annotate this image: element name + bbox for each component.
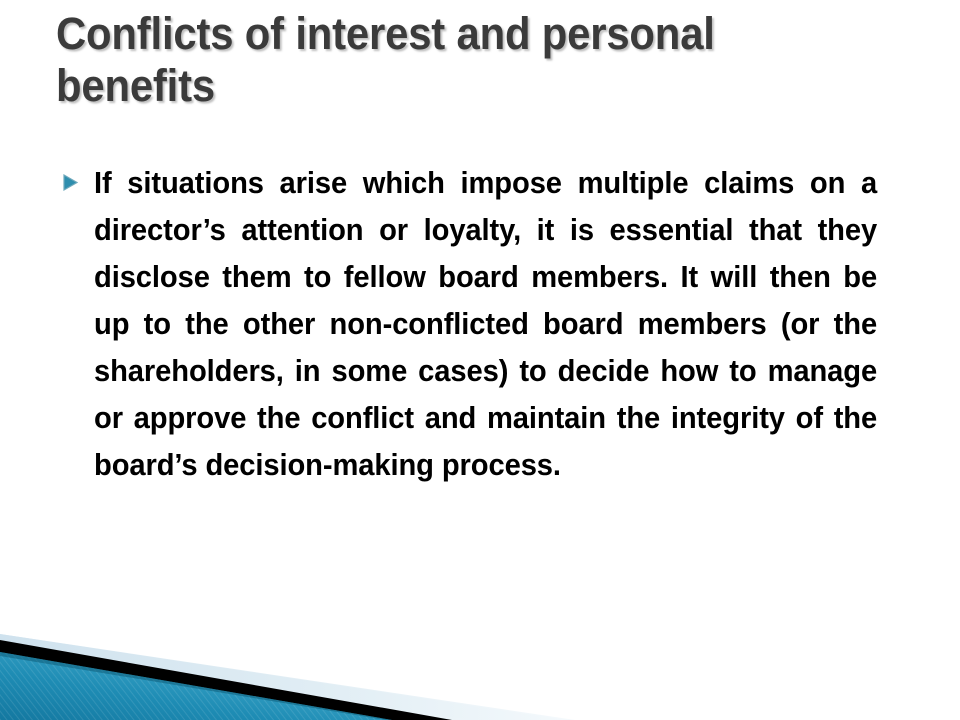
pale-blue-band-highlight bbox=[0, 634, 575, 720]
presentation-slide: Conflicts of interest and personal benef… bbox=[0, 0, 960, 720]
triangle-right-bullet-icon bbox=[62, 160, 94, 192]
teal-triangle bbox=[0, 652, 392, 720]
content-placeholder: If situations arise which impose multipl… bbox=[62, 160, 914, 489]
page-title: Conflicts of interest and personal benef… bbox=[56, 8, 856, 112]
body-paragraph: If situations arise which impose multipl… bbox=[94, 160, 877, 489]
teal-triangle-texture bbox=[0, 652, 392, 720]
list-item: If situations arise which impose multipl… bbox=[62, 160, 914, 489]
black-wedge bbox=[0, 640, 452, 720]
pale-blue-band bbox=[0, 634, 565, 720]
title-placeholder: Conflicts of interest and personal benef… bbox=[56, 8, 916, 112]
teal-edge-line bbox=[0, 652, 392, 720]
angles-corner-decoration bbox=[0, 590, 960, 720]
